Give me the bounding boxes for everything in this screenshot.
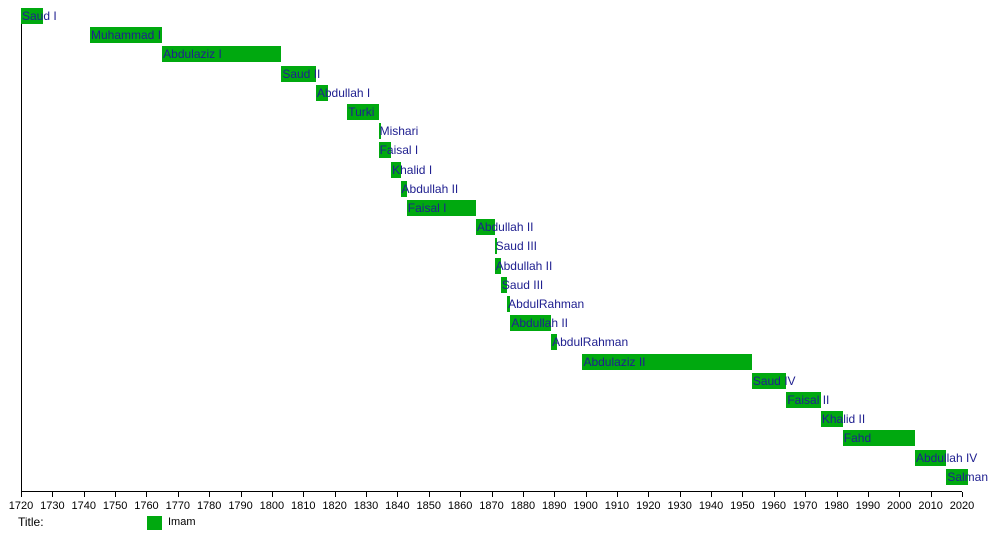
gantt-bar[interactable] (843, 430, 915, 446)
x-axis-tick (366, 492, 367, 497)
gantt-row: AbdulRahman (0, 296, 1000, 312)
gantt-bar[interactable] (582, 354, 751, 370)
gantt-bar[interactable] (347, 104, 378, 120)
gantt-bar-label: Saud III (495, 238, 537, 254)
x-axis-tick (805, 492, 806, 497)
x-axis-tick (617, 492, 618, 497)
gantt-bar[interactable] (915, 450, 946, 466)
x-axis-tick (774, 492, 775, 497)
gantt-row: Khalid II (0, 411, 1000, 427)
gantt-bar-label: Saud III (501, 277, 543, 293)
gantt-row: Faisal I (0, 142, 1000, 158)
gantt-bar[interactable] (510, 315, 551, 331)
gantt-row: Faisal II (0, 392, 1000, 408)
x-axis-tick (586, 492, 587, 497)
gantt-bar[interactable] (551, 334, 557, 350)
gantt-row: Turki (0, 104, 1000, 120)
gantt-bar-label: Abdullah II (401, 181, 459, 197)
gantt-bar[interactable] (90, 27, 162, 43)
gantt-row: Abdullah II (0, 181, 1000, 197)
x-axis-tick (899, 492, 900, 497)
legend-color-swatch-imam (147, 516, 162, 530)
x-axis-tick (868, 492, 869, 497)
legend-entry-label-imam: Imam (168, 516, 196, 528)
gantt-bar-label: Abdullah II (495, 258, 553, 274)
gantt-bar[interactable] (495, 258, 501, 274)
gantt-bar[interactable] (786, 392, 821, 408)
gantt-bar[interactable] (162, 46, 281, 62)
gantt-bar[interactable] (407, 200, 476, 216)
x-axis-tick (460, 492, 461, 497)
gantt-row: AbdulRahman (0, 334, 1000, 350)
x-axis-tick (397, 492, 398, 497)
x-axis-tick (680, 492, 681, 497)
x-axis-tick (742, 492, 743, 497)
x-axis-tick (554, 492, 555, 497)
gantt-row: Fahd (0, 430, 1000, 446)
gantt-bar-label: Mishari (379, 123, 419, 139)
gantt-row: Saud I (0, 8, 1000, 24)
gantt-bar[interactable] (391, 162, 400, 178)
gantt-row: Abdulaziz II (0, 354, 1000, 370)
x-axis-tick (272, 492, 273, 497)
gantt-bar[interactable] (495, 238, 497, 254)
x-axis-tick (303, 492, 304, 497)
x-axis-tick (931, 492, 932, 497)
gantt-row: Saud III (0, 238, 1000, 254)
x-axis-tick (178, 492, 179, 497)
gantt-row: Abdullah I (0, 85, 1000, 101)
gantt-row: Abdullah IV (0, 450, 1000, 466)
gantt-bar[interactable] (752, 373, 787, 389)
plot-area: 1720173017401750176017701780179018001810… (0, 0, 1000, 492)
gantt-row: Saud II (0, 66, 1000, 82)
gantt-bar-label: AbdulRahman (551, 334, 628, 350)
gantt-bar[interactable] (946, 469, 968, 485)
gantt-row: Faisal I (0, 200, 1000, 216)
legend-title-label: Title: (18, 515, 44, 529)
gantt-row: Abdullah II (0, 315, 1000, 331)
x-axis-tick (241, 492, 242, 497)
x-axis-tick (146, 492, 147, 497)
gantt-row: Abdulaziz I (0, 46, 1000, 62)
gantt-bar[interactable] (379, 123, 381, 139)
gantt-row: Saud III (0, 277, 1000, 293)
gantt-row: Saud IV (0, 373, 1000, 389)
legend: Title: Imam (0, 512, 1000, 536)
gantt-row: Abdullah II (0, 219, 1000, 235)
gantt-bar[interactable] (501, 277, 507, 293)
gantt-row: Salman (0, 469, 1000, 485)
gantt-bar[interactable] (379, 142, 392, 158)
x-axis-tick (209, 492, 210, 497)
gantt-bar[interactable] (316, 85, 329, 101)
gantt-bar[interactable] (21, 8, 43, 24)
x-axis-tick (962, 492, 963, 497)
gantt-bar[interactable] (821, 411, 843, 427)
x-axis-tick (335, 492, 336, 497)
x-axis-tick (492, 492, 493, 497)
x-axis-tick (837, 492, 838, 497)
gantt-bar-label: AbdulRahman (507, 296, 584, 312)
gantt-bar[interactable] (507, 296, 510, 312)
gantt-row: Khalid I (0, 162, 1000, 178)
gantt-timeline-chart: 1720173017401750176017701780179018001810… (0, 0, 1000, 540)
gantt-bar[interactable] (476, 219, 495, 235)
gantt-row: Mishari (0, 123, 1000, 139)
x-axis-tick (52, 492, 53, 497)
x-axis-tick (84, 492, 85, 497)
gantt-bar[interactable] (281, 66, 316, 82)
gantt-bar[interactable] (401, 181, 407, 197)
x-axis-tick (115, 492, 116, 497)
x-axis-tick (648, 492, 649, 497)
x-axis-tick (711, 492, 712, 497)
gantt-row: Abdullah II (0, 258, 1000, 274)
gantt-row: Muhammad I (0, 27, 1000, 43)
x-axis-tick (429, 492, 430, 497)
x-axis-tick-label: 2020 (942, 500, 982, 512)
x-axis-tick (21, 492, 22, 497)
x-axis-tick (523, 492, 524, 497)
